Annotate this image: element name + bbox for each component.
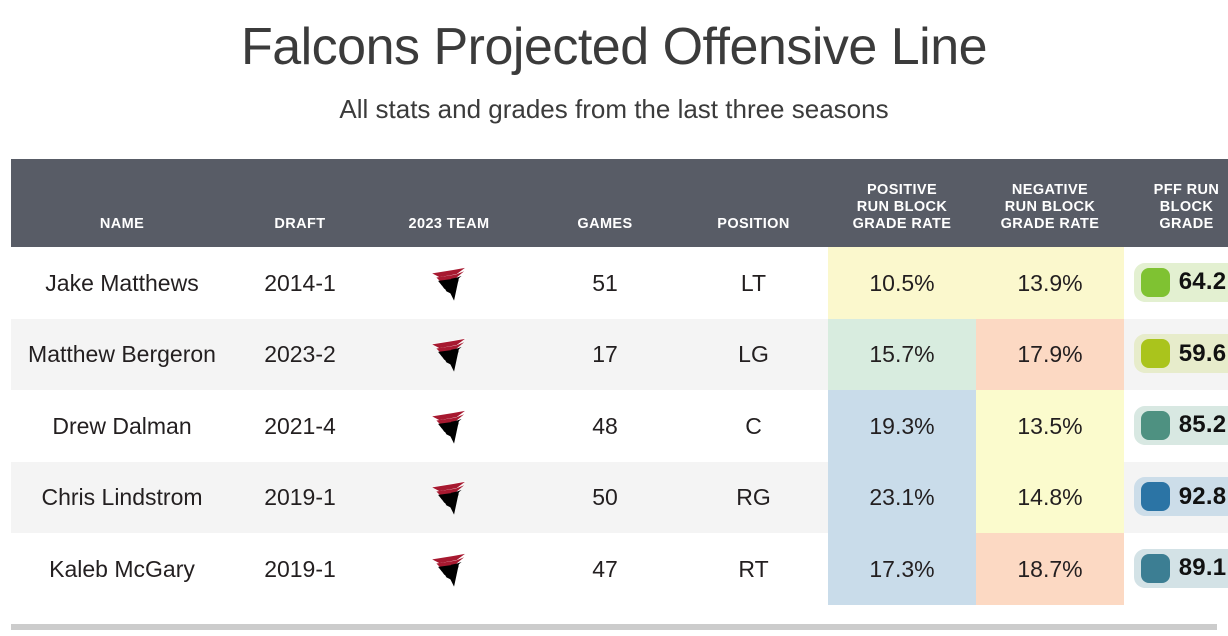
table-row: Chris Lindstrom2019-150RG23.1%14.8%92.8 [11,462,1228,534]
column-header-pff-run-block-grade[interactable]: PFF RUN BLOCK GRADE [1124,159,1228,247]
cell-games: 47 [531,533,679,605]
page-title: Falcons Projected Offensive Line [0,16,1228,78]
grades-table-wrapper: NAME DRAFT 2023 TEAM GAMES POSITION POSI… [11,159,1217,605]
cell-player-name: Jake Matthews [11,247,233,319]
grade-color-swatch [1141,411,1170,440]
grade-chip: 85.2 [1134,406,1228,445]
grade-value: 85.2 [1179,411,1227,439]
table-body: Jake Matthews2014-151LT10.5%13.9%64.2Mat… [11,247,1228,605]
atlanta-falcons-logo-icon [428,554,470,580]
cell-pff-run-block-grade: 85.2 [1124,390,1228,462]
cell-negative-run-block-grade-rate: 14.8% [976,462,1124,534]
cell-negative-run-block-grade-rate: 13.9% [976,247,1124,319]
cell-draft: 2019-1 [233,462,367,534]
cell-position: LG [679,319,828,391]
column-header-team[interactable]: 2023 TEAM [367,159,531,247]
cell-team [367,533,531,605]
title-block: Falcons Projected Offensive Line All sta… [0,0,1228,126]
cell-team [367,247,531,319]
cell-games: 17 [531,319,679,391]
grade-chip: 64.2 [1134,263,1228,302]
header-line-3: GRADE RATE [1001,216,1100,232]
column-header-negative-run-block-grade-rate[interactable]: NEGATIVE RUN BLOCK GRADE RATE [976,159,1124,247]
header-line-3: GRADE [1159,216,1213,232]
header-line-1: PFF RUN [1154,182,1220,198]
cell-position: C [679,390,828,462]
header-line-3: GRADE RATE [853,216,952,232]
header-line-2: BLOCK [1160,199,1214,215]
cell-games: 50 [531,462,679,534]
atlanta-falcons-logo-icon [428,482,470,508]
cell-player-name: Chris Lindstrom [11,462,233,534]
grade-value: 89.1 [1179,554,1227,582]
cell-player-name: Matthew Bergeron [11,319,233,391]
cell-games: 48 [531,390,679,462]
cell-negative-run-block-grade-rate: 13.5% [976,390,1124,462]
atlanta-falcons-logo-icon [428,411,470,437]
grade-chip: 89.1 [1134,549,1228,588]
column-header-draft[interactable]: DRAFT [233,159,367,247]
cell-positive-run-block-grade-rate: 15.7% [828,319,976,391]
cell-negative-run-block-grade-rate: 18.7% [976,533,1124,605]
cell-draft: 2014-1 [233,247,367,319]
grades-table: NAME DRAFT 2023 TEAM GAMES POSITION POSI… [11,159,1228,605]
cell-position: RT [679,533,828,605]
grade-color-swatch [1141,268,1170,297]
header-row: NAME DRAFT 2023 TEAM GAMES POSITION POSI… [11,159,1228,247]
table-row: Jake Matthews2014-151LT10.5%13.9%64.2 [11,247,1228,319]
cell-pff-run-block-grade: 92.8 [1124,462,1228,534]
cell-player-name: Drew Dalman [11,390,233,462]
cell-team [367,319,531,391]
page-root: Falcons Projected Offensive Line All sta… [0,0,1228,636]
cell-positive-run-block-grade-rate: 10.5% [828,247,976,319]
grade-value: 92.8 [1179,483,1227,511]
grade-color-swatch [1141,339,1170,368]
header-line-2: RUN BLOCK [857,199,948,215]
header-line-1: NEGATIVE [1012,182,1088,198]
column-header-name[interactable]: NAME [11,159,233,247]
cell-draft: 2023-2 [233,319,367,391]
cell-player-name: Kaleb McGary [11,533,233,605]
atlanta-falcons-logo-icon [428,339,470,365]
column-header-positive-run-block-grade-rate[interactable]: POSITIVE RUN BLOCK GRADE RATE [828,159,976,247]
cell-positive-run-block-grade-rate: 23.1% [828,462,976,534]
cell-games: 51 [531,247,679,319]
cell-position: LT [679,247,828,319]
grade-color-swatch [1141,554,1170,583]
table-row: Drew Dalman2021-448C19.3%13.5%85.2 [11,390,1228,462]
header-line-2: RUN BLOCK [1005,199,1096,215]
table-header: NAME DRAFT 2023 TEAM GAMES POSITION POSI… [11,159,1228,247]
grade-chip: 92.8 [1134,477,1228,516]
grade-value: 64.2 [1179,268,1227,296]
table-row: Kaleb McGary2019-147RT17.3%18.7%89.1 [11,533,1228,605]
column-header-games[interactable]: GAMES [531,159,679,247]
cell-pff-run-block-grade: 89.1 [1124,533,1228,605]
page-subtitle: All stats and grades from the last three… [0,92,1228,126]
cell-draft: 2021-4 [233,390,367,462]
cell-negative-run-block-grade-rate: 17.9% [976,319,1124,391]
cell-pff-run-block-grade: 64.2 [1124,247,1228,319]
grade-chip: 59.6 [1134,334,1228,373]
grade-color-swatch [1141,482,1170,511]
table-bottom-rule [11,624,1217,630]
grade-value: 59.6 [1179,340,1227,368]
cell-positive-run-block-grade-rate: 19.3% [828,390,976,462]
header-line-1: POSITIVE [867,182,937,198]
cell-draft: 2019-1 [233,533,367,605]
atlanta-falcons-logo-icon [428,268,470,294]
cell-positive-run-block-grade-rate: 17.3% [828,533,976,605]
column-header-position[interactable]: POSITION [679,159,828,247]
cell-team [367,390,531,462]
cell-team [367,462,531,534]
cell-pff-run-block-grade: 59.6 [1124,319,1228,391]
table-row: Matthew Bergeron2023-217LG15.7%17.9%59.6 [11,319,1228,391]
cell-position: RG [679,462,828,534]
